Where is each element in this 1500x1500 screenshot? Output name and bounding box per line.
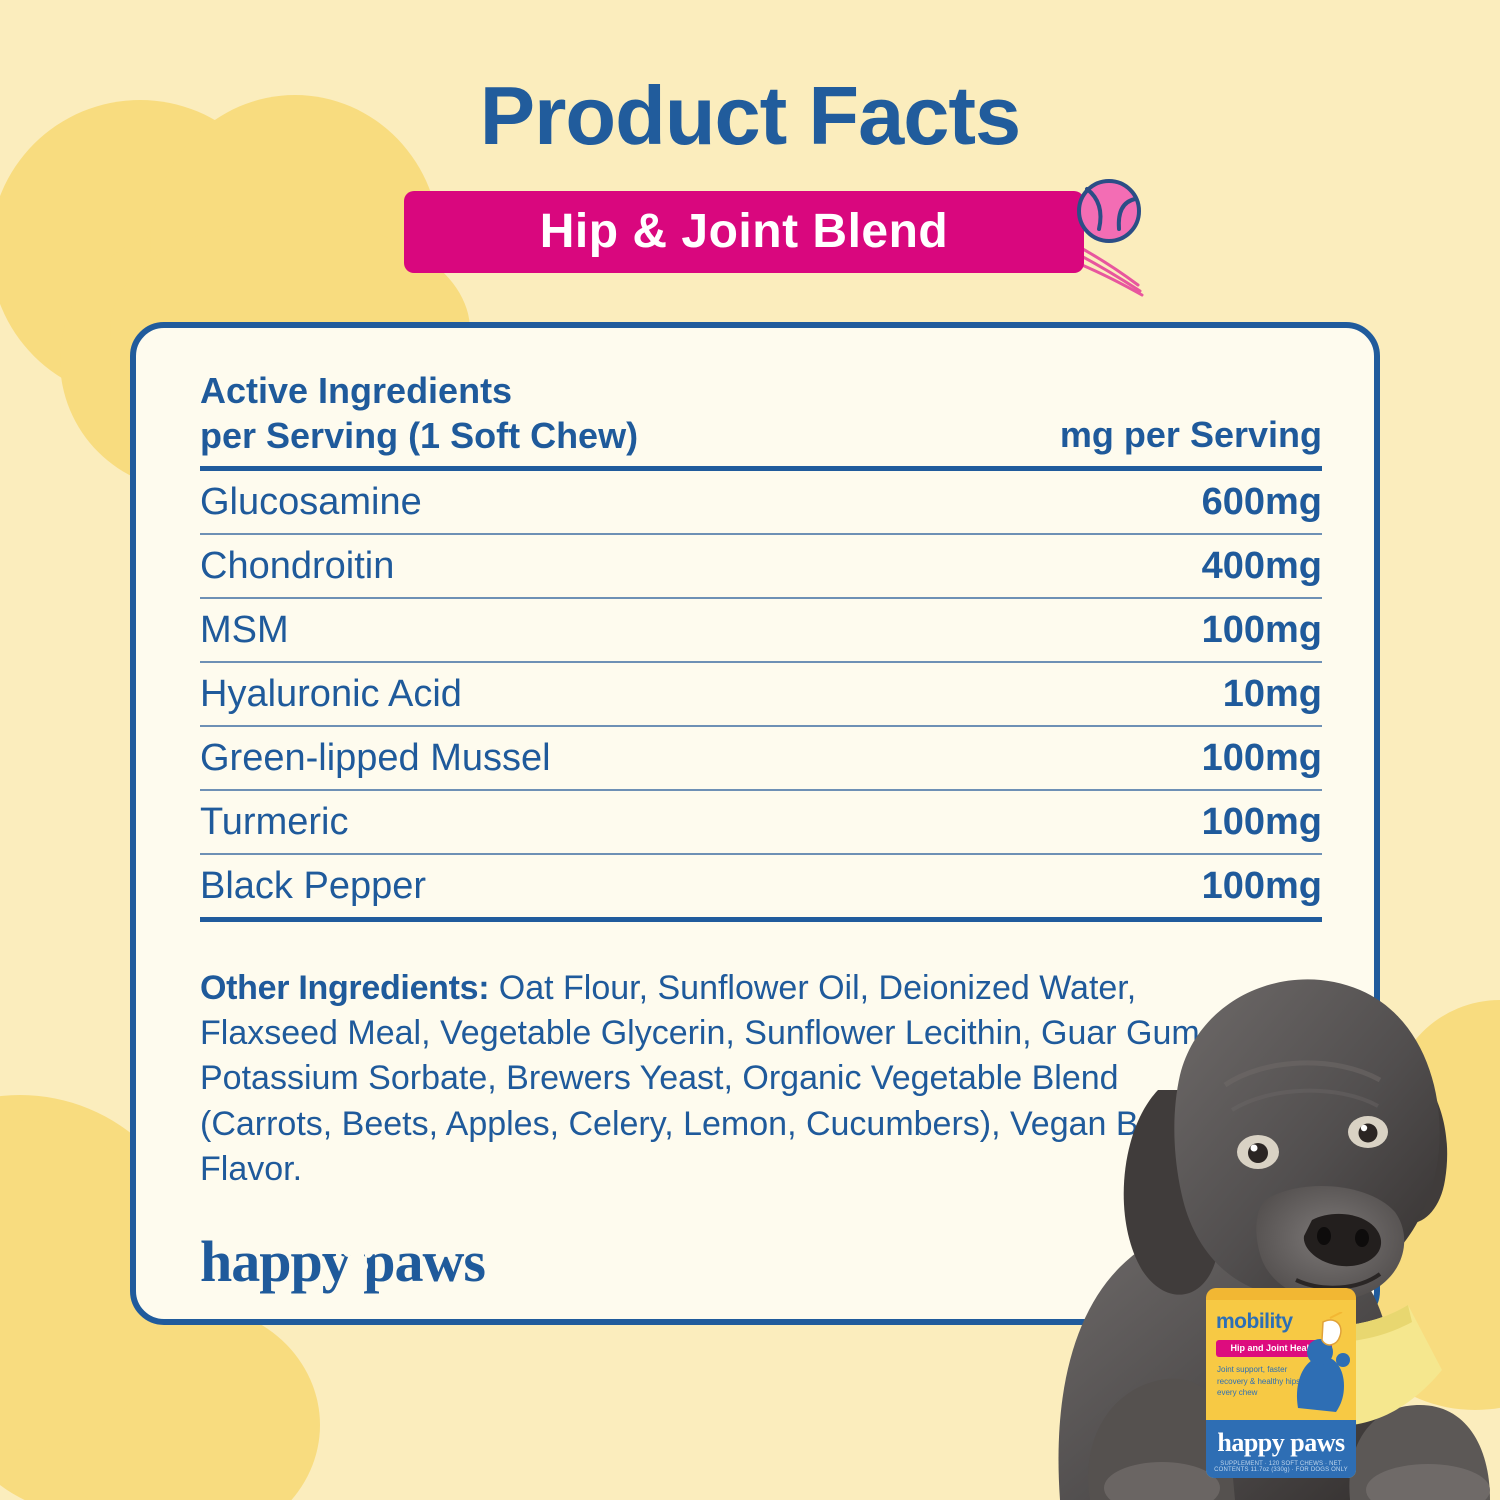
ingredient-name: MSM — [200, 599, 289, 661]
table-row: Turmeric 100mg — [200, 791, 1322, 853]
table-row: Hyaluronic Acid 10mg — [200, 663, 1322, 725]
page-title: Product Facts — [0, 74, 1500, 157]
jar-brand-band: happy paws SUPPLEMENT · 120 SOFT CHEWS ·… — [1206, 1420, 1356, 1478]
ingredient-amount: 10mg — [1223, 663, 1322, 725]
jar-dog-illustration-icon — [1290, 1312, 1350, 1412]
ingredient-name: Turmeric — [200, 791, 348, 853]
active-ingredients-table: Active Ingredients per Serving (1 Soft C… — [200, 368, 1322, 922]
ingredient-amount: 100mg — [1202, 727, 1322, 789]
ingredient-amount: 600mg — [1202, 471, 1322, 533]
ingredient-name: Black Pepper — [200, 855, 426, 917]
table-row: Glucosamine 600mg — [200, 471, 1322, 533]
background-blob-bottom-left — [60, 1305, 320, 1500]
table-row: Green-lipped Mussel 100mg — [200, 727, 1322, 789]
ingredient-name: Hyaluronic Acid — [200, 663, 462, 725]
ingredient-amount: 100mg — [1202, 791, 1322, 853]
table-header-row: Active Ingredients per Serving (1 Soft C… — [200, 368, 1322, 466]
jar-brand-name: happy paws — [1206, 1428, 1356, 1458]
other-ingredients-label: Other Ingredients: — [200, 969, 489, 1007]
column-header-amount: mg per Serving — [1060, 412, 1322, 458]
ingredient-amount: 100mg — [1202, 599, 1322, 661]
blend-banner: Hip & Joint Blend — [404, 191, 1084, 273]
jar-lid — [1206, 1288, 1356, 1300]
brand-logo: happy paws — [200, 1228, 485, 1295]
table-row: Chondroitin 400mg — [200, 535, 1322, 597]
paw-print-icon — [338, 1242, 378, 1278]
product-jar: mobility Hip and Joint Health Joint supp… — [1206, 1288, 1356, 1478]
tennis-ball-icon — [1075, 177, 1143, 245]
table-row: MSM 100mg — [200, 599, 1322, 661]
ingredient-name: Glucosamine — [200, 471, 422, 533]
jar-fineprint: SUPPLEMENT · 120 SOFT CHEWS · NET CONTEN… — [1206, 1461, 1356, 1473]
product-facts-infographic: Product Facts Hip & Joint Blend Active I… — [0, 0, 1500, 1500]
blend-banner-label: Hip & Joint Blend — [404, 191, 1084, 273]
ingredient-amount: 400mg — [1202, 535, 1322, 597]
column-header-ingredient: Active Ingredients per Serving (1 Soft C… — [200, 368, 638, 458]
ingredient-name: Green-lipped Mussel — [200, 727, 551, 789]
ingredient-name: Chondroitin — [200, 535, 394, 597]
